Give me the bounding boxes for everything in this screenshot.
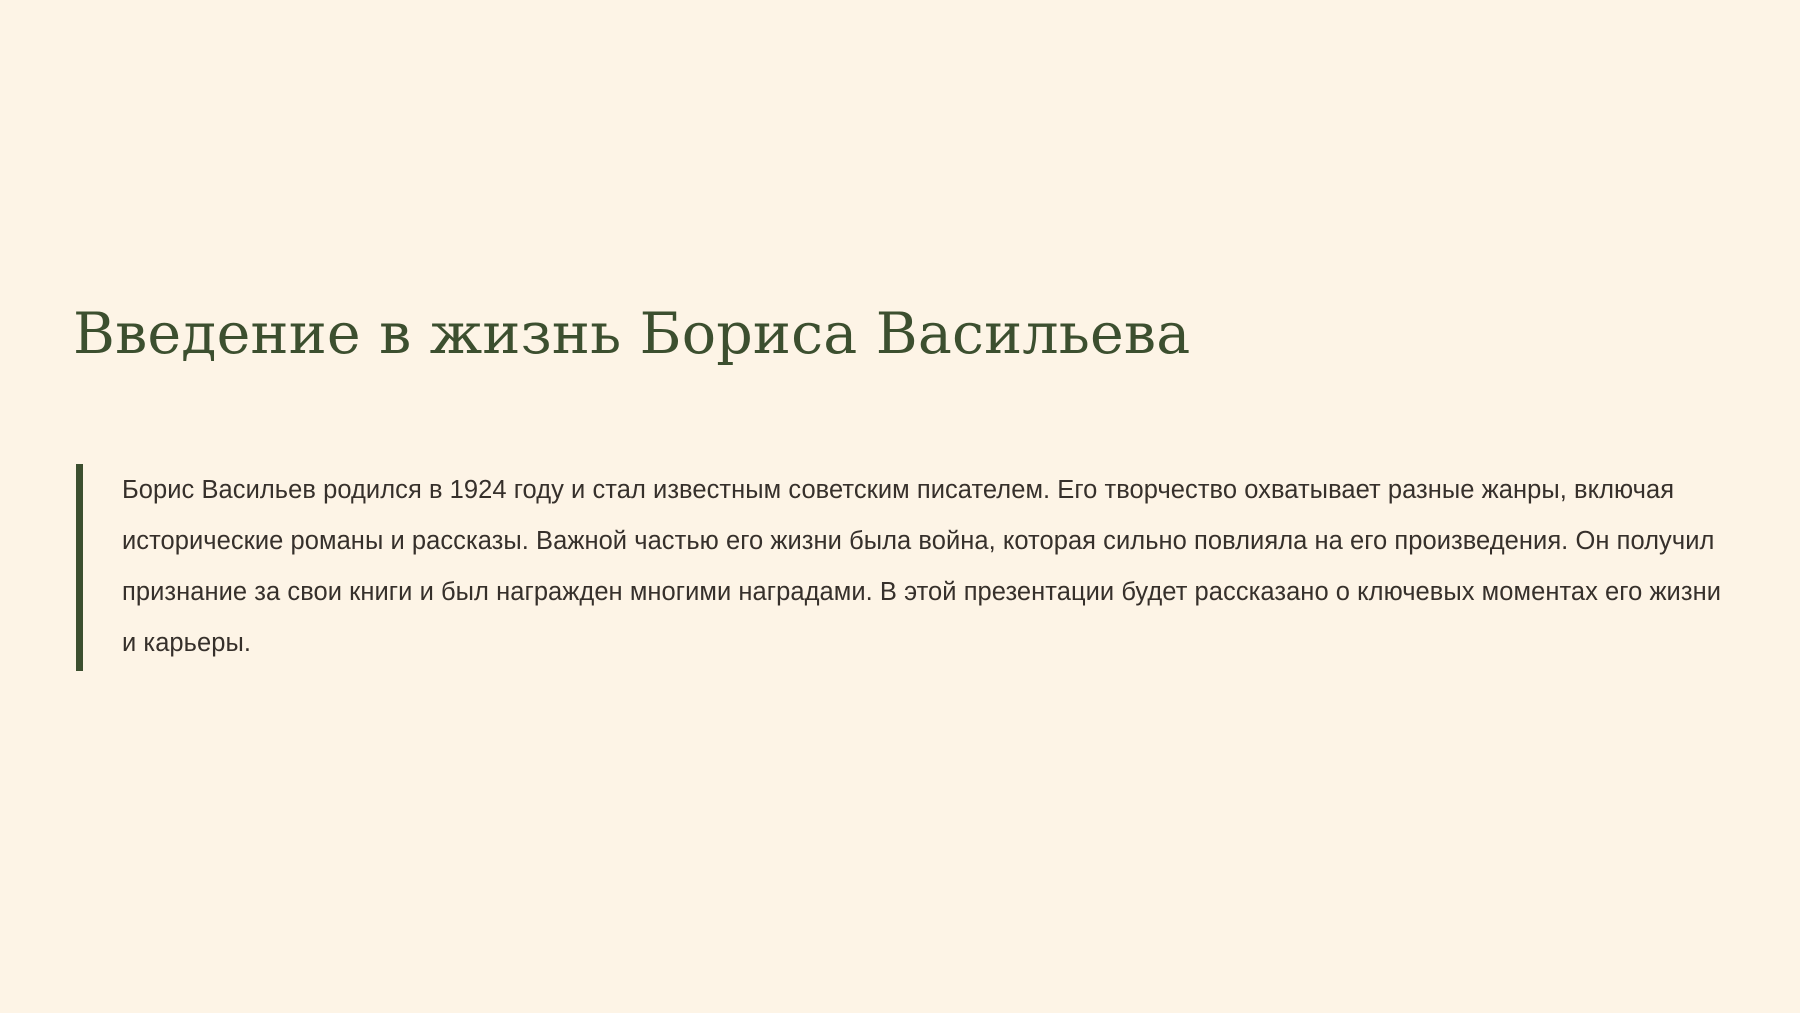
presentation-slide: Введение в жизнь Бориса Васильева Борис … bbox=[0, 0, 1800, 1013]
left-accent-rule bbox=[76, 464, 83, 671]
body-paragraph-block: Борис Васильев родился в 1924 году и ста… bbox=[76, 464, 1721, 671]
slide-body-text: Борис Васильев родился в 1924 году и ста… bbox=[83, 464, 1721, 671]
slide-content-area: Введение в жизнь Бориса Васильева Борис … bbox=[0, 0, 1800, 1013]
slide-title: Введение в жизнь Бориса Васильева bbox=[73, 301, 1713, 368]
